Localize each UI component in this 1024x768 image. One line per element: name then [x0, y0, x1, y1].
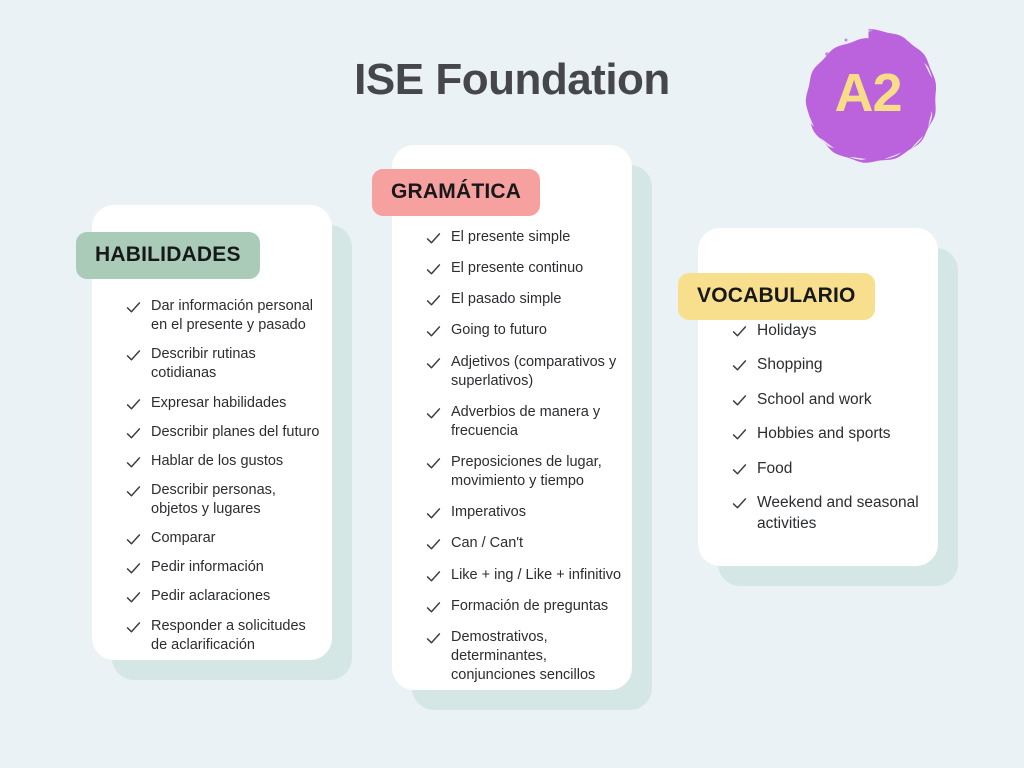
list-item: Shopping: [731, 355, 929, 375]
list-item: Food: [731, 459, 929, 479]
check-icon: [425, 505, 442, 522]
card-badge-gramatica: GRAMÁTICA: [372, 169, 540, 216]
list-item-label: Demostrativos, determinantes, conjuncion…: [451, 628, 623, 685]
list-item: Preposiciones de lugar, movimiento y tie…: [425, 453, 623, 491]
check-icon: [125, 560, 142, 577]
check-icon: [425, 261, 442, 278]
check-icon: [731, 461, 748, 478]
list-item: Can / Can't: [425, 534, 623, 553]
card-badge-vocabulario: VOCABULARIO: [678, 273, 875, 320]
card-gramatica: GRAMÁTICA El presente simple El presente…: [392, 145, 632, 690]
list-item: Pedir aclaraciones: [125, 587, 320, 606]
list-item: Comparar: [125, 529, 320, 548]
check-icon: [425, 630, 442, 647]
check-icon: [425, 455, 442, 472]
list-item-label: Shopping: [757, 355, 823, 375]
list-item-label: Describir rutinas cotidianas: [151, 345, 320, 383]
check-icon: [425, 323, 442, 340]
check-icon: [125, 347, 142, 364]
list-item-label: Describir personas, objetos y lugares: [151, 481, 320, 519]
check-icon: [125, 483, 142, 500]
check-icon: [731, 357, 748, 374]
check-icon: [425, 230, 442, 247]
list-habilidades: Dar información personal en el presente …: [125, 297, 320, 665]
check-icon: [425, 355, 442, 372]
list-item-label: School and work: [757, 390, 872, 410]
list-item: Pedir información: [125, 558, 320, 577]
list-item-label: Hobbies and sports: [757, 424, 891, 444]
check-icon: [731, 495, 748, 512]
list-item: Going to futuro: [425, 321, 623, 340]
list-item: Weekend and seasonal activities: [731, 493, 929, 534]
list-item: Adverbios de manera y frecuencia: [425, 403, 623, 441]
check-icon: [731, 392, 748, 409]
check-icon: [125, 425, 142, 442]
check-icon: [425, 568, 442, 585]
list-item-label: Imperativos: [451, 503, 526, 522]
list-item-label: Can / Can't: [451, 534, 523, 553]
check-icon: [425, 292, 442, 309]
list-item: Demostrativos, determinantes, conjuncion…: [425, 628, 623, 685]
check-icon: [125, 299, 142, 316]
list-item-label: Like + ing / Like + infinitivo: [451, 566, 621, 585]
list-item-label: Pedir aclaraciones: [151, 587, 270, 606]
list-item-label: Formación de preguntas: [451, 597, 608, 616]
list-item-label: Preposiciones de lugar, movimiento y tie…: [451, 453, 623, 491]
list-item: Describir personas, objetos y lugares: [125, 481, 320, 519]
list-item-label: Adjetivos (comparativos y superlativos): [451, 353, 623, 391]
list-item-label: Hablar de los gustos: [151, 452, 283, 471]
check-icon: [731, 323, 748, 340]
list-item: Describir planes del futuro: [125, 423, 320, 442]
card-habilidades: HABILIDADES Dar información personal en …: [92, 205, 332, 660]
list-item: El pasado simple: [425, 290, 623, 309]
check-icon: [425, 599, 442, 616]
list-item: Holidays: [731, 321, 929, 341]
list-item: Formación de preguntas: [425, 597, 623, 616]
level-badge: A2: [800, 27, 936, 163]
list-item-label: Dar información personal en el presente …: [151, 297, 320, 335]
check-icon: [125, 531, 142, 548]
check-icon: [425, 536, 442, 553]
list-item: El presente simple: [425, 228, 623, 247]
list-item: Responder a solicitudes de aclarificació…: [125, 617, 320, 655]
list-item-label: Describir planes del futuro: [151, 423, 319, 442]
card-badge-habilidades: HABILIDADES: [76, 232, 260, 279]
list-vocabulario: Holidays Shopping School and work Hobbie…: [731, 321, 929, 548]
list-item-label: Pedir información: [151, 558, 264, 577]
list-item: Imperativos: [425, 503, 623, 522]
list-item-label: Expresar habilidades: [151, 394, 286, 413]
list-item-label: Responder a solicitudes de aclarificació…: [151, 617, 320, 655]
list-item: Like + ing / Like + infinitivo: [425, 566, 623, 585]
list-item-label: Going to futuro: [451, 321, 547, 340]
list-item-label: Holidays: [757, 321, 816, 341]
list-item: El presente continuo: [425, 259, 623, 278]
list-item: Dar información personal en el presente …: [125, 297, 320, 335]
check-icon: [425, 405, 442, 422]
list-item: Describir rutinas cotidianas: [125, 345, 320, 383]
list-item: Hablar de los gustos: [125, 452, 320, 471]
list-item-label: El presente simple: [451, 228, 570, 247]
check-icon: [731, 426, 748, 443]
list-item: Hobbies and sports: [731, 424, 929, 444]
list-item: School and work: [731, 390, 929, 410]
list-item-label: Weekend and seasonal activities: [757, 493, 929, 534]
list-item: Adjetivos (comparativos y superlativos): [425, 353, 623, 391]
list-item-label: El presente continuo: [451, 259, 583, 278]
check-icon: [125, 619, 142, 636]
check-icon: [125, 396, 142, 413]
level-badge-label: A2: [800, 27, 936, 163]
list-gramatica: El presente simple El presente continuo …: [425, 228, 623, 697]
list-item-label: El pasado simple: [451, 290, 561, 309]
list-item-label: Food: [757, 459, 792, 479]
list-item-label: Adverbios de manera y frecuencia: [451, 403, 623, 441]
check-icon: [125, 454, 142, 471]
card-vocabulario: VOCABULARIO Holidays Shopping School and…: [698, 228, 938, 566]
list-item: Expresar habilidades: [125, 394, 320, 413]
check-icon: [125, 589, 142, 606]
list-item-label: Comparar: [151, 529, 215, 548]
